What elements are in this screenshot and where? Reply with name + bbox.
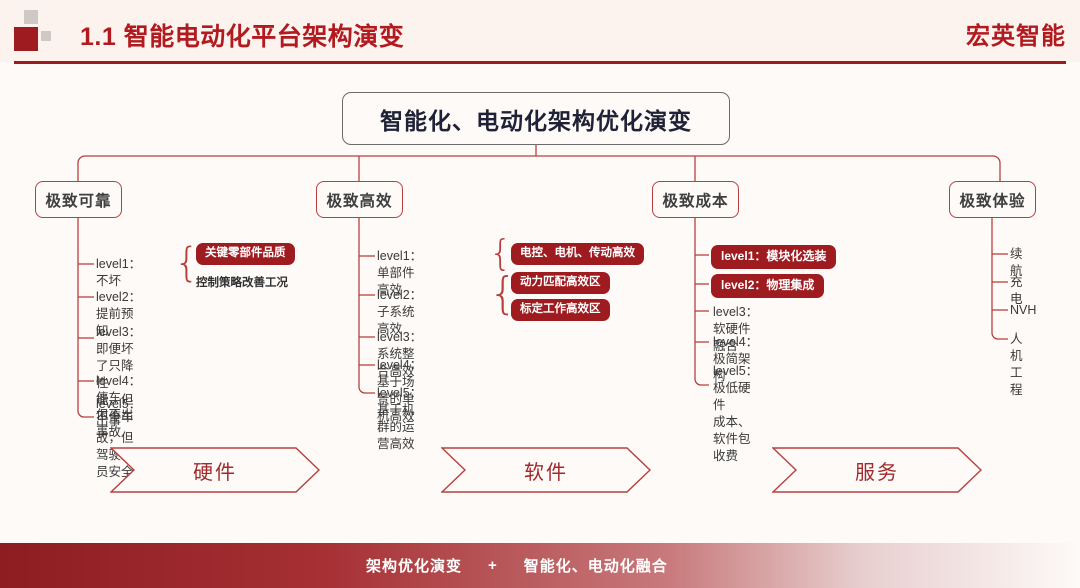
list-item: level1：不坏	[96, 256, 141, 290]
list-item: level5：极低硬件 成本、软件包收费	[713, 363, 758, 465]
category-box-cost[interactable]: 极致成本	[652, 181, 739, 218]
brand-logo: 宏英智能	[966, 16, 1066, 51]
root-title-label: 智能化、电动化架构优化演变	[380, 102, 692, 136]
root-title-box: 智能化、电动化架构优化演变	[342, 92, 730, 145]
badge-pill: 标定工作高效区	[511, 299, 610, 321]
badge-pill: 电控、电机、传动高效	[511, 243, 644, 265]
footer-content: 架构优化演变 + 智能化、电动化融合	[366, 555, 668, 576]
category-label: 极致高效	[326, 189, 392, 211]
column-3-branches	[695, 247, 709, 385]
list-item: 人机工程	[1010, 331, 1023, 399]
badge-plain: 控制策略改善工况	[196, 274, 288, 290]
category-box-reliability[interactable]: 极致可靠	[35, 181, 122, 218]
badge-pill: 关键零部件品质	[196, 243, 295, 265]
decoration-square-top	[24, 10, 38, 24]
category-box-experience[interactable]: 极致体验	[949, 181, 1036, 218]
category-label: 极致成本	[662, 189, 728, 211]
slide-header: 1.1 智能电动化平台架构演变 宏英智能	[0, 0, 1080, 62]
badge-pill: 动力匹配高效区	[511, 272, 610, 294]
slide-footer: 架构优化演变 + 智能化、电动化融合	[0, 543, 1080, 588]
chevron-hardware[interactable]: 硬件	[110, 447, 320, 493]
decoration-square-small	[41, 31, 51, 41]
list-item-highlighted: level1：模块化选装	[711, 245, 836, 269]
chevron-label: 软件	[441, 447, 651, 493]
list-item: NVH	[1010, 302, 1036, 319]
column-4-branches	[992, 247, 1008, 339]
slide-canvas: 1.1 智能电动化平台架构演变 宏英智能	[0, 0, 1080, 588]
chevron-service[interactable]: 服务	[772, 447, 982, 493]
category-box-efficiency[interactable]: 极致高效	[316, 181, 403, 218]
footer-plus-sign: +	[488, 557, 498, 574]
connector-lines	[0, 0, 1080, 588]
category-label: 极致体验	[959, 189, 1025, 211]
chevron-software[interactable]: 软件	[441, 447, 651, 493]
chevron-label: 服务	[772, 447, 982, 493]
footer-left-text: 架构优化演变	[366, 555, 462, 576]
page-title: 1.1 智能电动化平台架构演变	[80, 17, 404, 53]
list-item: level5：基于机群的运营高效	[377, 385, 422, 453]
decoration-square-large	[14, 27, 38, 51]
column-1-branches	[78, 247, 94, 417]
header-divider	[14, 61, 1066, 64]
chevron-label: 硬件	[110, 447, 320, 493]
column-2-branches	[359, 247, 375, 393]
list-item-highlighted: level2：物理集成	[711, 274, 824, 298]
category-label: 极致可靠	[45, 189, 111, 211]
footer-right-text: 智能化、电动化融合	[524, 555, 668, 576]
